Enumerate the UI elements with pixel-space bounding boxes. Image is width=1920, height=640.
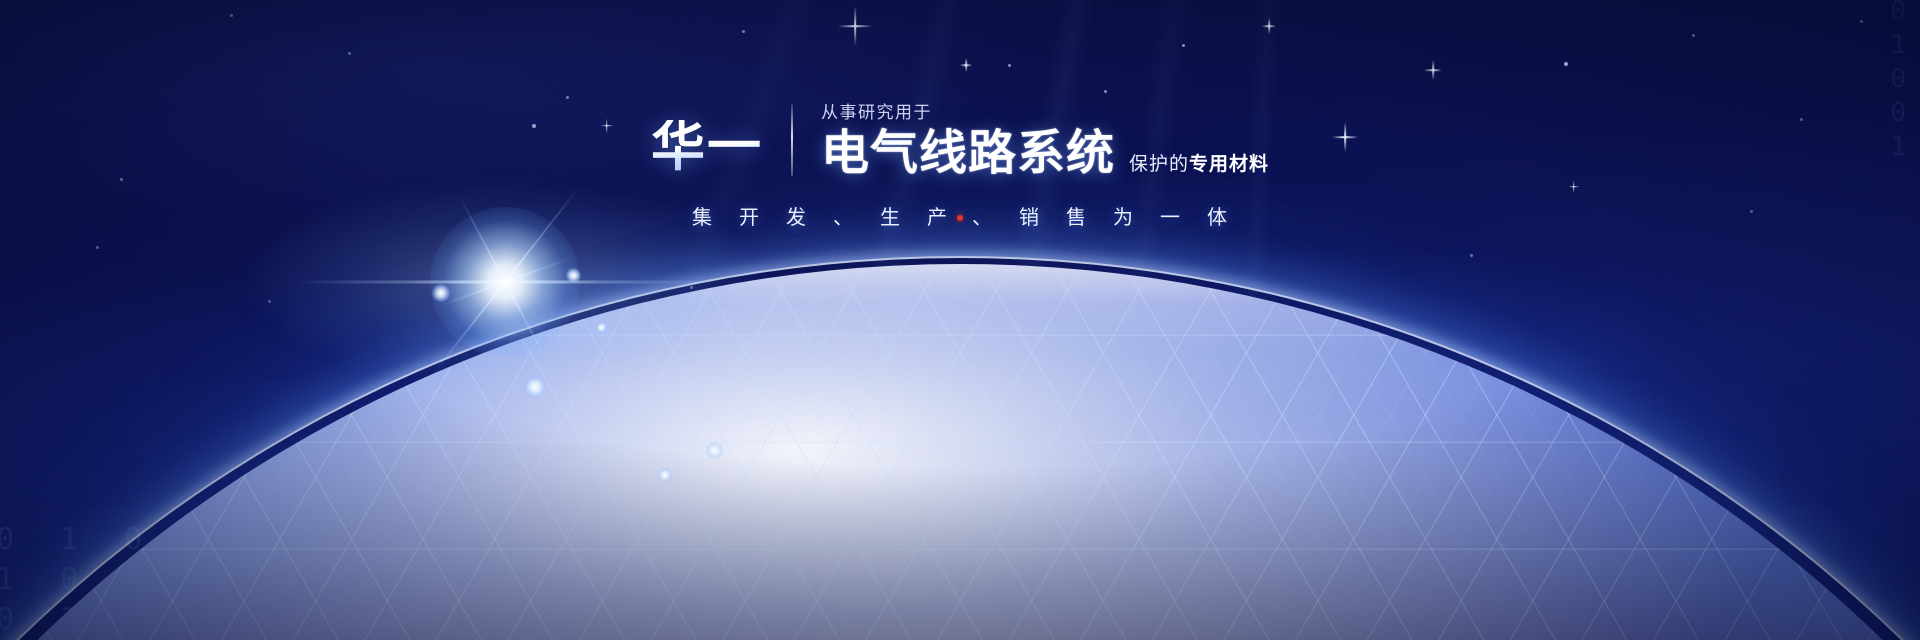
tagline-char: 生 <box>880 208 901 228</box>
tagline-char: 一 <box>1160 208 1181 228</box>
suffix-prefix: 保护的 <box>1129 154 1189 175</box>
suffix-strong: 专用材料 <box>1189 154 1269 175</box>
suffix-text: 保护的专用材料 <box>1129 155 1269 178</box>
title-divider <box>791 104 793 176</box>
tagline-char: 体 <box>1207 208 1228 228</box>
tagline-char: 发 <box>786 208 807 228</box>
tagline-char: 产 <box>927 208 948 228</box>
accent-dot <box>957 215 963 221</box>
tagline-char: 销 <box>1019 208 1040 228</box>
main-title: 电气线路系统 <box>821 130 1115 178</box>
tagline-char: 售 <box>1066 208 1087 228</box>
headline-block: 华一 从事研究用于 电气线路系统 保护的专用材料 集 开 发 、 生 产 、 销… <box>0 104 1920 228</box>
main-title-line: 电气线路系统 保护的专用材料 <box>821 130 1269 178</box>
title-row: 华一 从事研究用于 电气线路系统 保护的专用材料 <box>651 104 1269 178</box>
tagline-char: 开 <box>739 208 760 228</box>
tagline-char: 为 <box>1113 208 1134 228</box>
tagline-char: 集 <box>692 208 713 228</box>
hero-banner: 0 1 0 0 1 0 1 0 1 0 1 0 0 1 1 0 1 1 0 1 … <box>0 0 1920 640</box>
kicker-text: 从事研究用于 <box>821 104 1269 121</box>
title-right-stack: 从事研究用于 电气线路系统 保护的专用材料 <box>821 104 1269 178</box>
hexagon-mesh-globe <box>0 264 1920 640</box>
tagline: 集 开 发 、 生 产 、 销 售 为 一 体 <box>692 208 1228 228</box>
brand-name: 华一 <box>651 120 763 178</box>
tagline-char: 、 <box>833 208 854 228</box>
tagline-char: 、 <box>972 208 993 228</box>
